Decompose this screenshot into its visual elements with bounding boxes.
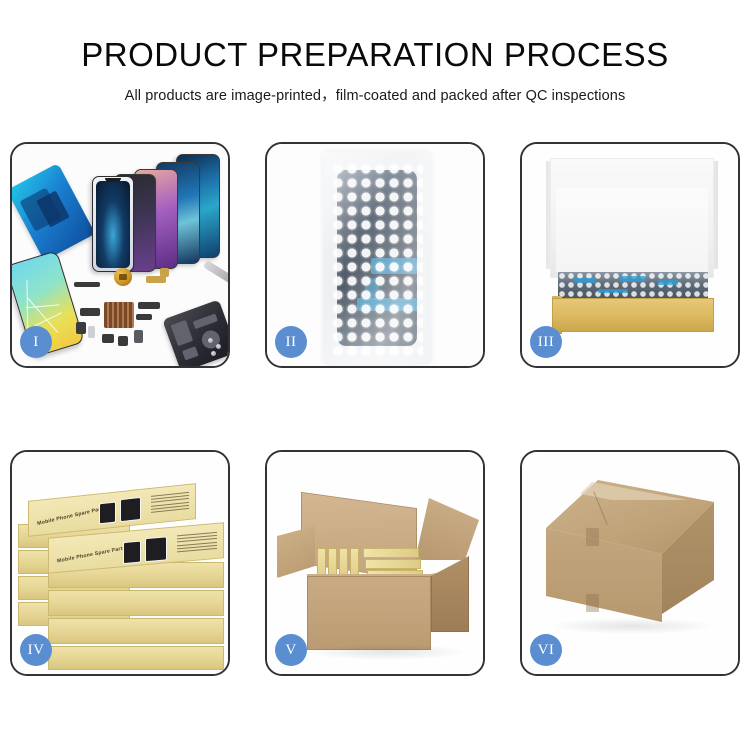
phone-back-housing-icon — [162, 299, 228, 366]
housing-part — [171, 320, 194, 346]
process-step-panel-6: VI — [520, 450, 740, 676]
drop-shadow — [550, 618, 714, 634]
chip-array-icon — [104, 302, 134, 328]
crack-line — [35, 312, 63, 326]
part-battery-cell — [134, 330, 143, 343]
process-step-grid: I II — [10, 142, 740, 676]
carton-tab — [586, 528, 599, 546]
process-step-panel-4: Mobile Phone Spare Parts Mobile Phone Sp… — [10, 450, 230, 676]
crack-line — [26, 304, 60, 308]
part-antenna — [136, 314, 152, 320]
page-subtitle: All products are image-printed，film-coat… — [0, 84, 750, 105]
foam-lining — [556, 188, 708, 272]
carton-front-panel — [307, 576, 431, 650]
gold-connector-icon — [160, 268, 169, 277]
screw-icon — [208, 338, 213, 343]
drop-shadow — [307, 644, 467, 660]
step-badge-3: III — [530, 326, 562, 358]
process-step-panel-1: I — [10, 142, 230, 368]
header: PRODUCT PREPARATION PROCESS All products… — [0, 0, 750, 105]
phone-wallpaper — [96, 181, 130, 268]
product-preparation-process-page: PRODUCT PREPARATION PROCESS All products… — [0, 0, 750, 750]
process-step-panel-2: II — [265, 142, 485, 368]
screw-icon — [211, 351, 216, 356]
box-base-kraft — [552, 298, 714, 332]
spare-parts-cluster — [74, 264, 228, 366]
gold-flex-cable-icon — [146, 276, 166, 283]
retail-box — [48, 618, 224, 644]
box-phone-artwork — [145, 536, 167, 562]
step-badge-6: VI — [530, 634, 562, 666]
part-sim-tray — [88, 326, 95, 338]
phone-screen-fan — [90, 152, 228, 272]
box-label-text: Mobile Phone Spare Parts — [37, 506, 106, 527]
box-spec-lines — [177, 532, 217, 555]
housing-part — [193, 313, 218, 329]
step-badge-2: II — [275, 326, 307, 358]
speaker-module-icon — [114, 268, 132, 286]
step-badge-1: I — [20, 326, 52, 358]
part-bracket — [80, 308, 100, 316]
page-title: PRODUCT PREPARATION PROCESS — [0, 36, 750, 74]
blue-film-blip — [620, 276, 646, 282]
step-badge-5: V — [275, 634, 307, 666]
retail-box — [365, 559, 421, 569]
phone-screen-icon-1 — [92, 176, 134, 272]
box-phone-artwork — [120, 497, 141, 522]
box-phone-artwork — [123, 541, 141, 565]
retail-box-stack: Mobile Phone Spare Parts Mobile Phone Sp… — [18, 466, 228, 666]
screw-icon — [216, 344, 221, 349]
phone-notch-icon — [105, 178, 121, 182]
wrapped-items-in-box — [558, 272, 708, 300]
part-vibrator — [118, 336, 128, 346]
box-spec-lines — [151, 492, 189, 515]
carton-tab — [586, 594, 599, 612]
housing-part — [182, 346, 199, 360]
part-connector — [76, 322, 86, 334]
part-strip — [74, 282, 100, 287]
retail-box — [48, 646, 224, 670]
film-gloss-overlay — [323, 152, 431, 364]
box-phone-artwork — [99, 502, 116, 525]
retail-box — [363, 548, 419, 558]
bubble-wrap-sheet — [323, 152, 431, 364]
part-camera — [102, 334, 114, 343]
blue-film-blip — [598, 289, 628, 293]
screwdriver-icon — [203, 260, 228, 288]
step-badge-4: IV — [20, 634, 52, 666]
blue-film-blip — [658, 280, 678, 285]
process-step-panel-3: III — [520, 142, 740, 368]
part-flex — [138, 302, 160, 309]
retail-box — [48, 590, 224, 616]
box-label-text: Mobile Phone Spare Parts — [57, 545, 126, 564]
process-step-panel-5: V — [265, 450, 485, 676]
blue-film-blip — [574, 278, 596, 283]
